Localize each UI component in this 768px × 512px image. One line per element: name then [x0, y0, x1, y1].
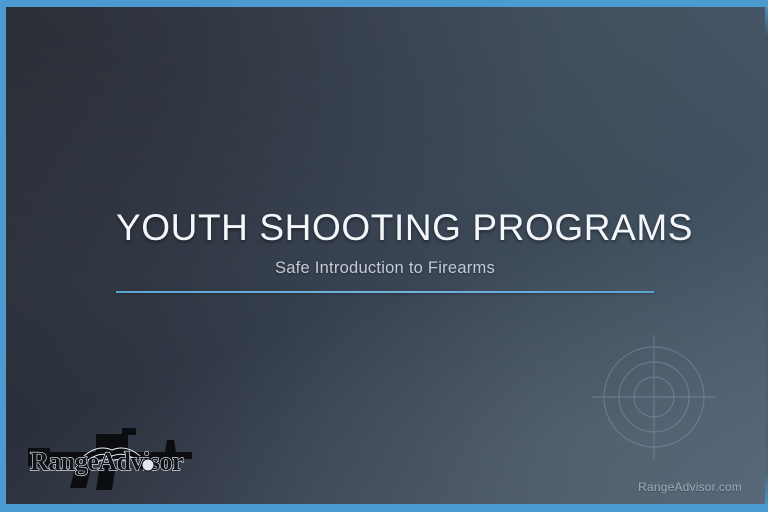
title-slide: YOUTH SHOOTING PROGRAMS Safe Introductio… — [0, 0, 768, 512]
title-block: YOUTH SHOOTING PROGRAMS Safe Introductio… — [116, 208, 654, 293]
page-title: YOUTH SHOOTING PROGRAMS — [116, 208, 654, 248]
accent-divider — [116, 291, 654, 293]
footer-website-url[interactable]: RangeAdvisor.com — [638, 480, 742, 494]
crosshair-target-icon — [592, 335, 716, 459]
slide-border-bottom — [0, 504, 768, 512]
page-subtitle: Safe Introduction to Firearms — [116, 259, 654, 278]
slide-border-left — [0, 0, 6, 512]
slide-border-top — [0, 0, 768, 7]
brand-logo[interactable]: RangeAdvisor — [24, 422, 200, 494]
brand-wordmark: RangeAdvisor — [30, 447, 183, 476]
